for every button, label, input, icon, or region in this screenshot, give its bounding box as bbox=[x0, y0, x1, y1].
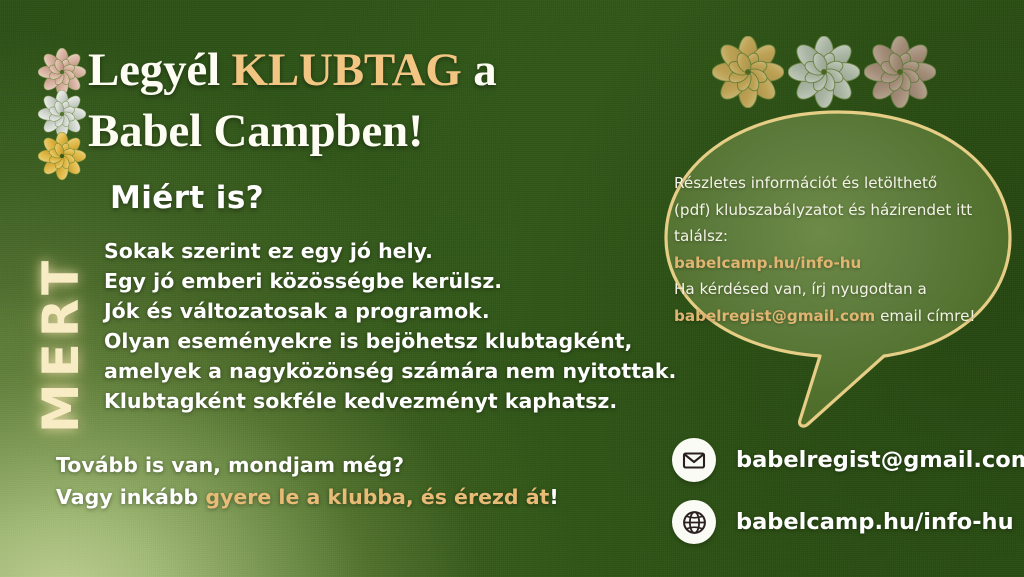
bubble-link-website[interactable]: babelcamp.hu/info-hu bbox=[674, 250, 984, 277]
closing-line-1: Tovább is van, mondjam még? bbox=[56, 449, 616, 481]
closing-line-2: Vagy inkább gyere le a klubba, és érezd … bbox=[56, 481, 616, 513]
contact-label-email[interactable]: babelregist@gmail.com bbox=[736, 447, 1024, 473]
poster-canvas: Legyél KLUBTAG a Babel Campben! Miért is… bbox=[0, 0, 1024, 577]
headline-text-1: Legyél bbox=[88, 44, 231, 96]
closing-suffix: ! bbox=[549, 485, 558, 509]
bubble-line-1: Részletes információt és letölthető bbox=[674, 170, 984, 197]
flower-rose-icon bbox=[38, 48, 86, 96]
speech-bubble-text: Részletes információt és letölthető (pdf… bbox=[674, 170, 984, 329]
bubble-link-email[interactable]: babelregist@gmail.com bbox=[674, 307, 875, 325]
globe-icon bbox=[672, 500, 716, 544]
bubble-line-5-suffix: email címre! bbox=[875, 307, 975, 325]
contact-row-website[interactable]: babelcamp.hu/info-hu bbox=[672, 493, 1024, 551]
list-item: Olyan eseményekre is bejöhetsz klubtagké… bbox=[104, 326, 684, 356]
bubble-line-3: találsz: bbox=[674, 223, 984, 250]
bubble-line-4: Ha kérdésed van, írj nyugodtan a bbox=[674, 276, 984, 303]
flower-silver-icon bbox=[38, 90, 86, 138]
flower-rose-large-icon bbox=[864, 36, 936, 108]
headline-text-2: a bbox=[462, 44, 497, 96]
flower-gold-large-icon bbox=[712, 36, 784, 108]
list-item: amelyek a nagyközönség számára nem nyito… bbox=[104, 356, 684, 386]
envelope-icon bbox=[672, 438, 716, 482]
list-item: Klubtagként sokféle kedvezményt kaphatsz… bbox=[104, 386, 684, 416]
flower-silver-large-icon bbox=[788, 36, 860, 108]
contact-list: babelregist@gmail.com babelcamp.hu/info-… bbox=[672, 431, 1024, 555]
speech-bubble: Részletes információt és letölthető (pdf… bbox=[638, 104, 1024, 444]
headline-line-1: Legyél KLUBTAG a bbox=[88, 44, 497, 96]
page-title: Legyél KLUBTAG a Babel Campben! bbox=[88, 40, 688, 162]
contact-label-website[interactable]: babelcamp.hu/info-hu bbox=[736, 509, 1014, 535]
closing-prefix: Vagy inkább bbox=[56, 485, 205, 509]
reasons-list: Sokak szerint ez egy jó hely. Egy jó emb… bbox=[104, 236, 684, 416]
list-item: Sokak szerint ez egy jó hely. bbox=[104, 236, 684, 266]
closing-text: Tovább is van, mondjam még? Vagy inkább … bbox=[56, 449, 616, 513]
list-item: Jók és változatosak a programok. bbox=[104, 296, 684, 326]
list-item: Egy jó emberi közösségbe kerülsz. bbox=[104, 266, 684, 296]
headline-line-2: Babel Campben! bbox=[88, 105, 423, 157]
bubble-line-2: (pdf) klubszabályzatot és házirendet itt bbox=[674, 197, 984, 224]
closing-highlight: gyere le a klubba, és érezd át bbox=[205, 485, 549, 509]
headline-highlight: KLUBTAG bbox=[231, 44, 461, 96]
bubble-line-5: babelregist@gmail.com email címre! bbox=[674, 303, 984, 330]
subtitle: Miért is? bbox=[110, 179, 264, 217]
vertical-mert-label: MERT bbox=[35, 249, 87, 439]
contact-row-email[interactable]: babelregist@gmail.com bbox=[672, 431, 1024, 489]
flower-gold-icon bbox=[38, 132, 86, 180]
